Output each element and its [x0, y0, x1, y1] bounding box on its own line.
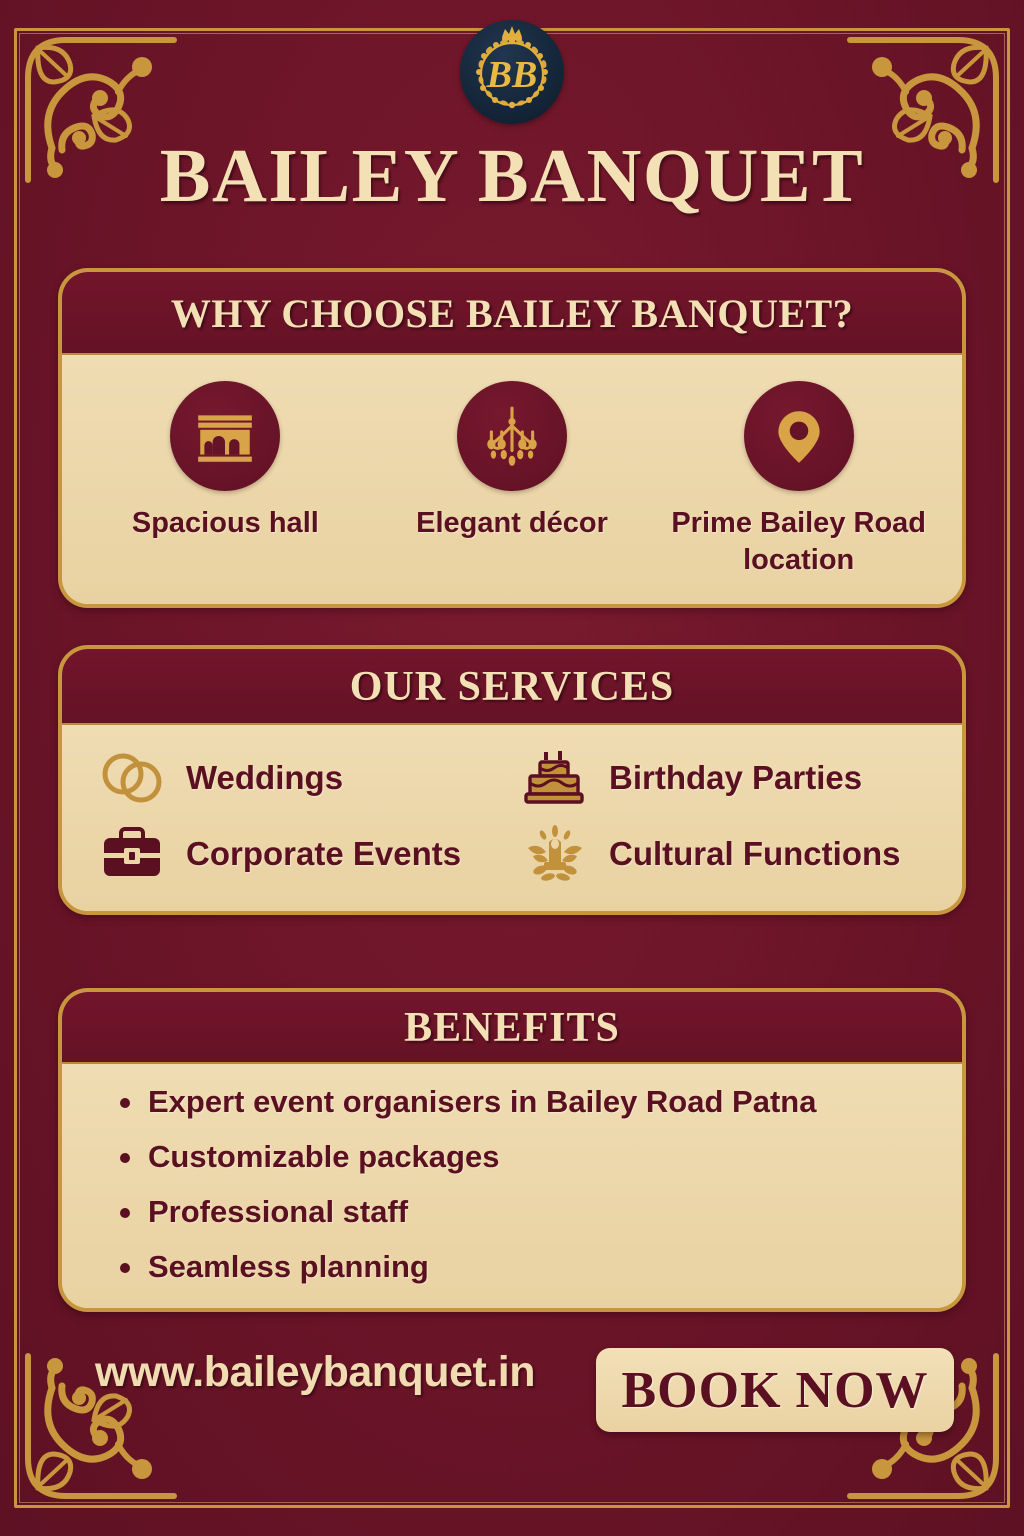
- list-item: Expert event organisers in Bailey Road P…: [114, 1086, 932, 1117]
- list-item: Professional staff: [114, 1196, 932, 1227]
- feature-spacious-hall[interactable]: Spacious hall: [82, 381, 369, 578]
- why-choose-body: Spacious hall: [62, 355, 962, 604]
- page-title: BAILEY BANQUET: [0, 138, 1024, 214]
- benefits-card: BENEFITS Expert event organisers in Bail…: [58, 988, 966, 1312]
- why-choose-card: WHY CHOOSE BAILEY BANQUET?: [58, 268, 966, 608]
- location-pin-icon: [744, 381, 854, 491]
- feature-elegant-decor[interactable]: Elegant décor: [369, 381, 656, 578]
- feature-label: Spacious hall: [82, 505, 369, 542]
- list-item: Customizable packages: [114, 1141, 932, 1172]
- chandelier-icon: [457, 381, 567, 491]
- benefits-list: Expert event organisers in Bailey Road P…: [62, 1064, 962, 1308]
- book-now-button[interactable]: BOOK NOW: [596, 1348, 954, 1432]
- service-label: Weddings: [186, 759, 343, 797]
- feature-label: Prime Bailey Road location: [655, 505, 942, 578]
- services-heading: OUR SERVICES: [62, 649, 962, 725]
- website-url[interactable]: www.baileybanquet.in: [95, 1348, 535, 1397]
- banquet-hall-icon: [170, 381, 280, 491]
- service-label: Birthday Parties: [609, 759, 862, 797]
- logo-monogram-text: BB: [486, 54, 538, 96]
- services-body: Weddings Birthday: [62, 725, 962, 911]
- wedding-rings-icon: [94, 747, 170, 809]
- feature-prime-location[interactable]: Prime Bailey Road location: [655, 381, 942, 578]
- services-card: OUR SERVICES Weddings: [58, 645, 966, 915]
- why-choose-heading: WHY CHOOSE BAILEY BANQUET?: [62, 272, 962, 355]
- service-label: Corporate Events: [186, 835, 461, 873]
- service-cultural-functions[interactable]: Cultural Functions: [517, 823, 940, 885]
- briefcase-icon: [94, 823, 170, 885]
- service-birthday-parties[interactable]: Birthday Parties: [517, 747, 940, 809]
- benefits-heading: BENEFITS: [62, 992, 962, 1064]
- benefits-body: Expert event organisers in Bailey Road P…: [62, 1064, 962, 1308]
- service-weddings[interactable]: Weddings: [94, 747, 517, 809]
- logo-medallion-icon: BB: [460, 20, 564, 124]
- cultural-ornament-icon: [517, 823, 593, 885]
- birthday-cake-icon: [517, 747, 593, 809]
- service-corporate-events[interactable]: Corporate Events: [94, 823, 517, 885]
- book-now-label: BOOK NOW: [621, 1361, 928, 1420]
- brand-logo: BB: [460, 20, 564, 124]
- list-item: Seamless planning: [114, 1251, 932, 1282]
- feature-label: Elegant décor: [369, 505, 656, 542]
- service-label: Cultural Functions: [609, 835, 901, 873]
- poster-canvas: BB BAILEY BANQUET WHY CHOOSE BAILEY BANQ…: [0, 0, 1024, 1536]
